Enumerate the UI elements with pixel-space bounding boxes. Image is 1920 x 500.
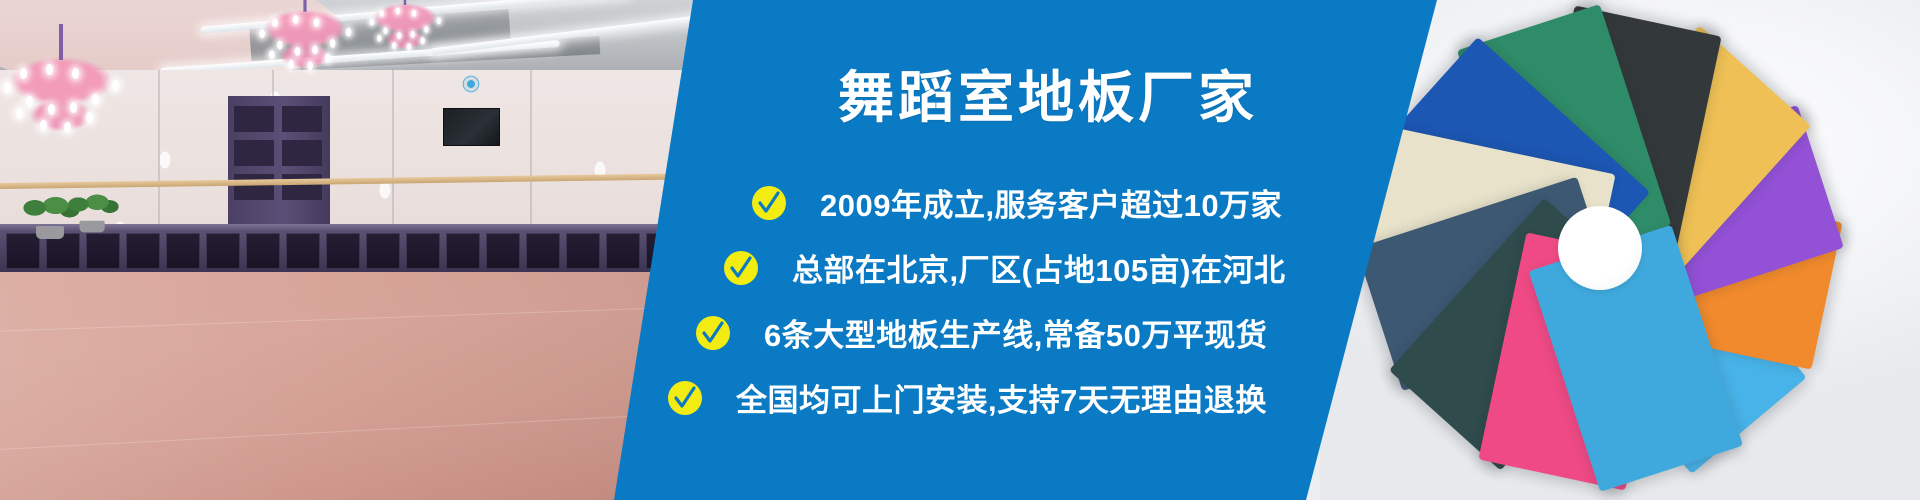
promo-banner: 舞蹈室地板厂家 2009年成立,服务客户超过10万家 总部在北京,厂区(占地10… xyxy=(0,0,1920,500)
list-item: 总部在北京,厂区(占地105亩)在河北 xyxy=(724,245,1285,290)
list-item: 2009年成立,服务客户超过10万家 xyxy=(752,180,1282,225)
check-circle-icon xyxy=(696,316,730,350)
list-item-label: 2009年成立,服务客户超过10万家 xyxy=(820,180,1282,225)
fan-hub xyxy=(1558,206,1642,290)
check-circle-icon xyxy=(668,381,702,415)
list-item-label: 总部在北京,厂区(占地105亩)在河北 xyxy=(792,245,1285,290)
list-item: 全国均可上门安装,支持7天无理由退换 xyxy=(668,375,1267,420)
list-item-label: 6条大型地板生产线,常备50万平现货 xyxy=(764,310,1267,355)
check-circle-icon xyxy=(752,186,786,220)
list-item: 6条大型地板生产线,常备50万平现货 xyxy=(696,310,1267,355)
check-circle-icon xyxy=(724,251,758,285)
list-item-label: 全国均可上门安装,支持7天无理由退换 xyxy=(736,375,1267,420)
